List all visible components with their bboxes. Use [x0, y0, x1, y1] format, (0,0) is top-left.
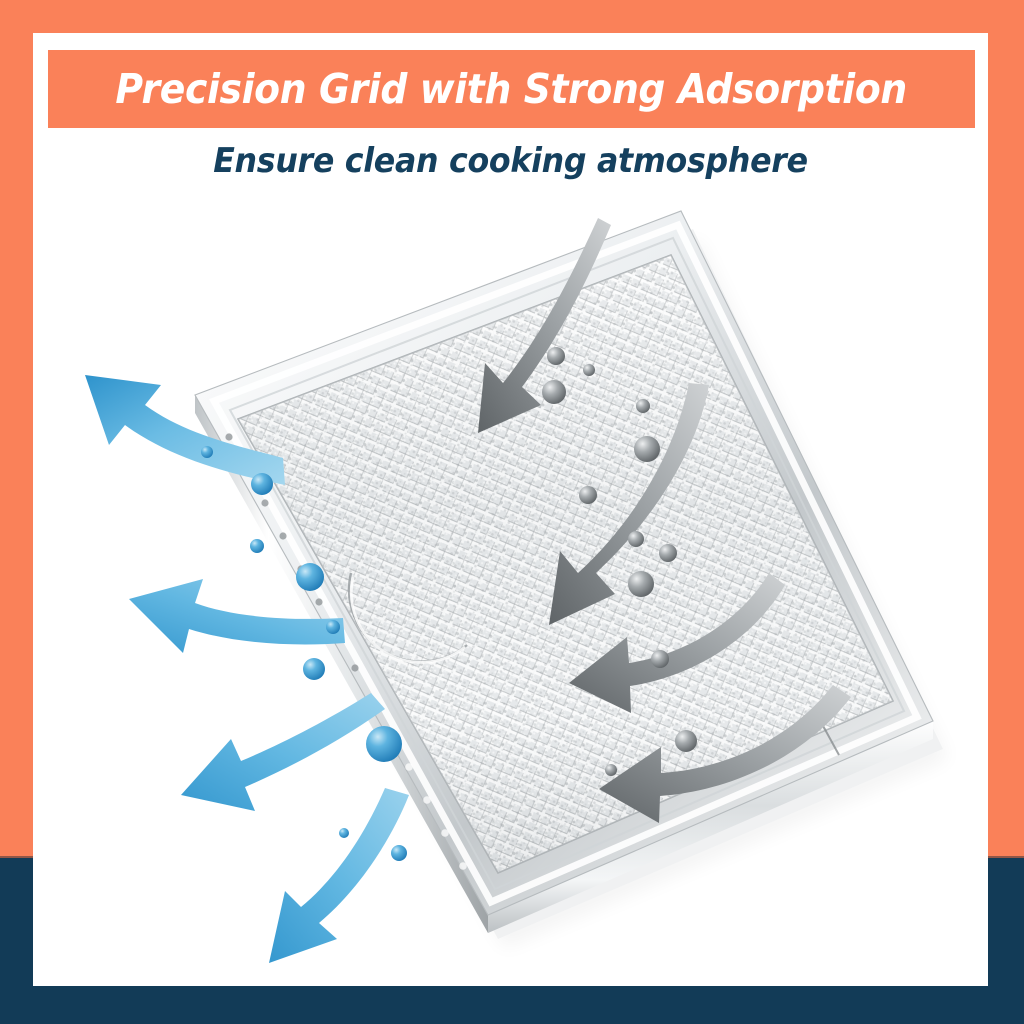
airflow-arrow-3 — [181, 693, 385, 811]
product-marketing-banner: Precision Grid with Strong Adsorption En… — [0, 0, 1024, 1024]
page-subtitle: Ensure clean cooking atmosphere — [66, 141, 954, 181]
content-canvas: Precision Grid with Strong Adsorption En… — [33, 33, 988, 986]
page-title: Precision Grid with Strong Adsorption — [116, 65, 907, 113]
airflow-arrow-4 — [269, 788, 409, 963]
title-banner: Precision Grid with Strong Adsorption — [48, 50, 975, 128]
